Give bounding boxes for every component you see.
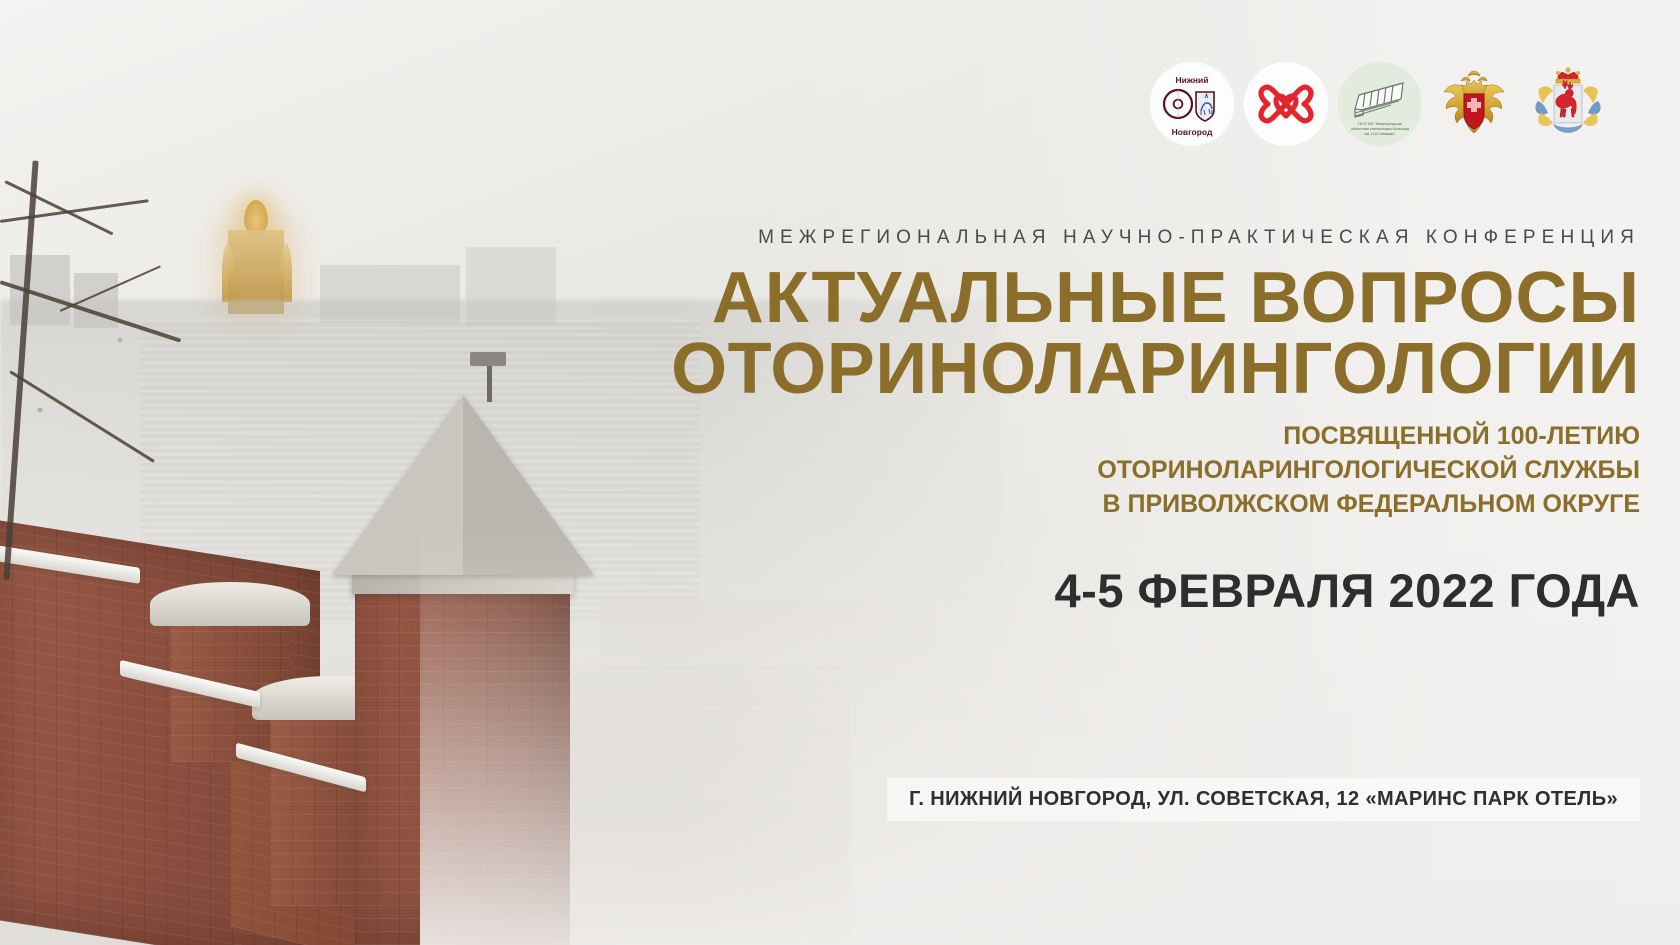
- title-line-1: АКТУАЛЬНЫЕ ВОПРОСЫ: [712, 258, 1640, 338]
- tree-trunk: [3, 161, 38, 580]
- logo-nizhny-novgorod-city-emblem: Нижний Новгород: [1150, 62, 1234, 146]
- kremlin-tower-weathervane: [470, 352, 506, 366]
- logo-text-top: Нижний: [1176, 75, 1209, 85]
- subtitle-line-3: В ПРИВОЛЖСКОМ ФЕДЕРАЛЬНОМ ОКРУГЕ: [540, 488, 1640, 522]
- hospital-caption-line2: областная клиническая больница: [1351, 127, 1410, 131]
- wreath-right-gold: [1583, 86, 1598, 103]
- hospital-building-icon: ГБУЗ НО "Нижегородская областная клиниче…: [1341, 65, 1419, 143]
- page-title: АКТУАЛЬНЫЕ ВОПРОСЫ ОТОРИНОЛАРИНГОЛОГИИ: [540, 263, 1640, 404]
- poster-text-block: МЕЖРЕГИОНАЛЬНАЯ НАУЧНО-ПРАКТИЧЕСКАЯ КОНФ…: [540, 228, 1640, 618]
- bare-tree-branches: [0, 160, 250, 680]
- wreath-left-gold-2: [1538, 113, 1553, 126]
- logo-text-bottom: Новгород: [1172, 127, 1213, 137]
- eagle-head-right-crown: [1478, 77, 1487, 81]
- red-hearts-cross-icon: [1252, 70, 1320, 138]
- wreath-right-gold-2: [1583, 113, 1598, 126]
- conference-kicker: МЕЖРЕГИОНАЛЬНАЯ НАУЧНО-ПРАКТИЧЕСКАЯ КОНФ…: [540, 228, 1640, 247]
- logo-nizhny-novgorod-oblast-coat-of-arms: [1526, 62, 1610, 146]
- poster-subtitle: ПОСВЯЩЕННОЙ 100-ЛЕТИЮ ОТОРИНОЛАРИНГОЛОГИ…: [540, 420, 1640, 521]
- nizhny-novgorod-city-emblem-icon: Нижний Новгород: [1155, 67, 1229, 141]
- eagle-head-left-crown: [1461, 77, 1470, 81]
- wreath-left-blue: [1535, 101, 1548, 115]
- crown: [1556, 67, 1580, 83]
- conference-date: 4-5 ФЕВРАЛЯ 2022 ГОДА: [540, 563, 1640, 618]
- logo-ministry-of-health-russia: [1432, 62, 1516, 146]
- venue-address: Г. НИЖНИЙ НОВГОРОД, УЛ. СОВЕТСКАЯ, 12 «М…: [887, 778, 1640, 821]
- oblast-coat-of-arms-icon: [1527, 61, 1609, 147]
- kremlin-tower-spire: [487, 360, 492, 402]
- tree-branch: [60, 265, 161, 312]
- ribbon: [1553, 124, 1583, 133]
- hospital-caption-line1: ГБУЗ НО "Нижегородская: [1358, 122, 1402, 126]
- logo-red-hearts-cross: [1244, 62, 1328, 146]
- eagle-crown: [1468, 71, 1480, 76]
- conference-poster: Нижний Новгород: [0, 0, 1680, 945]
- wreath-right-blue: [1588, 101, 1601, 115]
- wreath-left-gold: [1539, 86, 1554, 103]
- tree-branch: [0, 199, 149, 223]
- subtitle-line-2: ОТОРИНОЛАРИНГОЛОГИЧЕСКОЙ СЛУЖБЫ: [540, 454, 1640, 488]
- organizer-logo-row: Нижний Новгород: [1150, 62, 1610, 146]
- title-line-2: ОТОРИНОЛАРИНГОЛОГИИ: [540, 334, 1640, 405]
- hospital-caption-line3: им. Н.А.Семашко": [1364, 132, 1396, 136]
- double-headed-eagle-emblem-icon: [1434, 64, 1514, 144]
- subtitle-line-1: ПОСВЯЩЕННОЙ 100-ЛЕТИЮ: [540, 420, 1640, 454]
- venue-bar-wrapper: Г. НИЖНИЙ НОВГОРОД, УЛ. СОВЕТСКАЯ, 12 «М…: [887, 778, 1640, 821]
- tree-branch: [9, 370, 155, 463]
- logo-semashko-regional-hospital: ГБУЗ НО "Нижегородская областная клиниче…: [1338, 62, 1422, 146]
